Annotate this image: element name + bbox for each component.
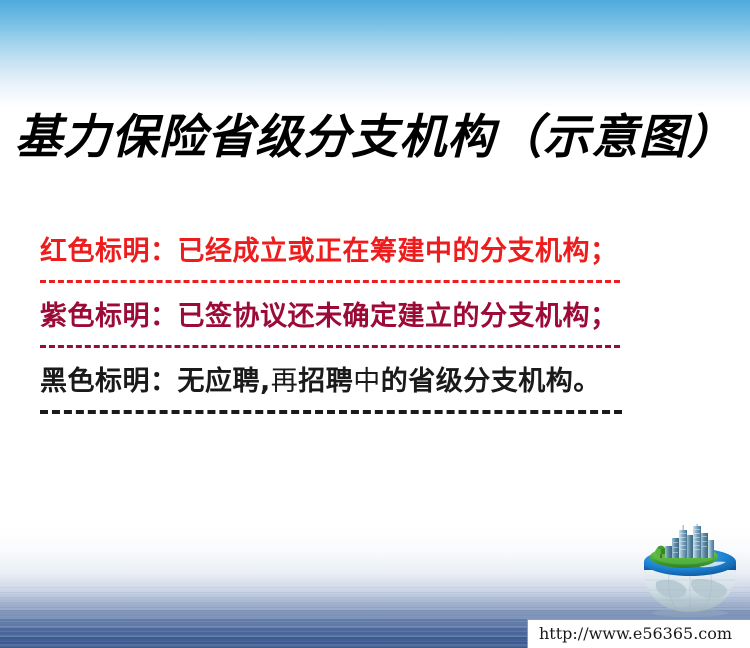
legend-item-black: 黑色标明：无应聘,再招聘中的省级分支机构。 [40,362,710,414]
legend-divider-black [40,410,622,414]
watermark-url: http://www.e56365.com [539,624,732,643]
legend-label-black: 黑色标明：无应聘,再招聘中的省级分支机构。 [40,362,710,402]
slide-canvas: 基力保险省级分支机构（示意图） 红色标明：已经成立或正在筹建中的分支机构； 紫色… [0,0,750,648]
skyline-buildings [665,524,714,558]
legend-item-purple: 紫色标明：已签协议还未确定建立的分支机构； [40,297,710,348]
legend-label-purple: 紫色标明：已签协议还未确定建立的分支机构； [40,297,710,337]
legend-label-black-part2: 再 [271,366,299,397]
sky-gradient-background [0,0,750,108]
watermark-box: http://www.e56365.com [527,619,750,648]
earth-city-globe-icon [634,524,746,618]
legend-label-black-part4: 中 [353,366,381,397]
legend-divider-purple [40,345,620,348]
legend-item-red: 红色标明：已经成立或正在筹建中的分支机构； [40,232,710,283]
legend-label-red: 红色标明：已经成立或正在筹建中的分支机构； [40,232,710,272]
legend-divider-red [40,280,620,283]
legend-label-black-part1: 黑色标明：无应聘, [40,366,271,397]
legend-label-black-part5: 的省级分支机构。 [381,366,601,397]
page-title: 基力保险省级分支机构（示意图） [0,98,750,167]
legend-label-black-part3: 招聘 [298,366,353,397]
legend-block: 红色标明：已经成立或正在筹建中的分支机构； 紫色标明：已签协议还未确定建立的分支… [40,232,710,428]
